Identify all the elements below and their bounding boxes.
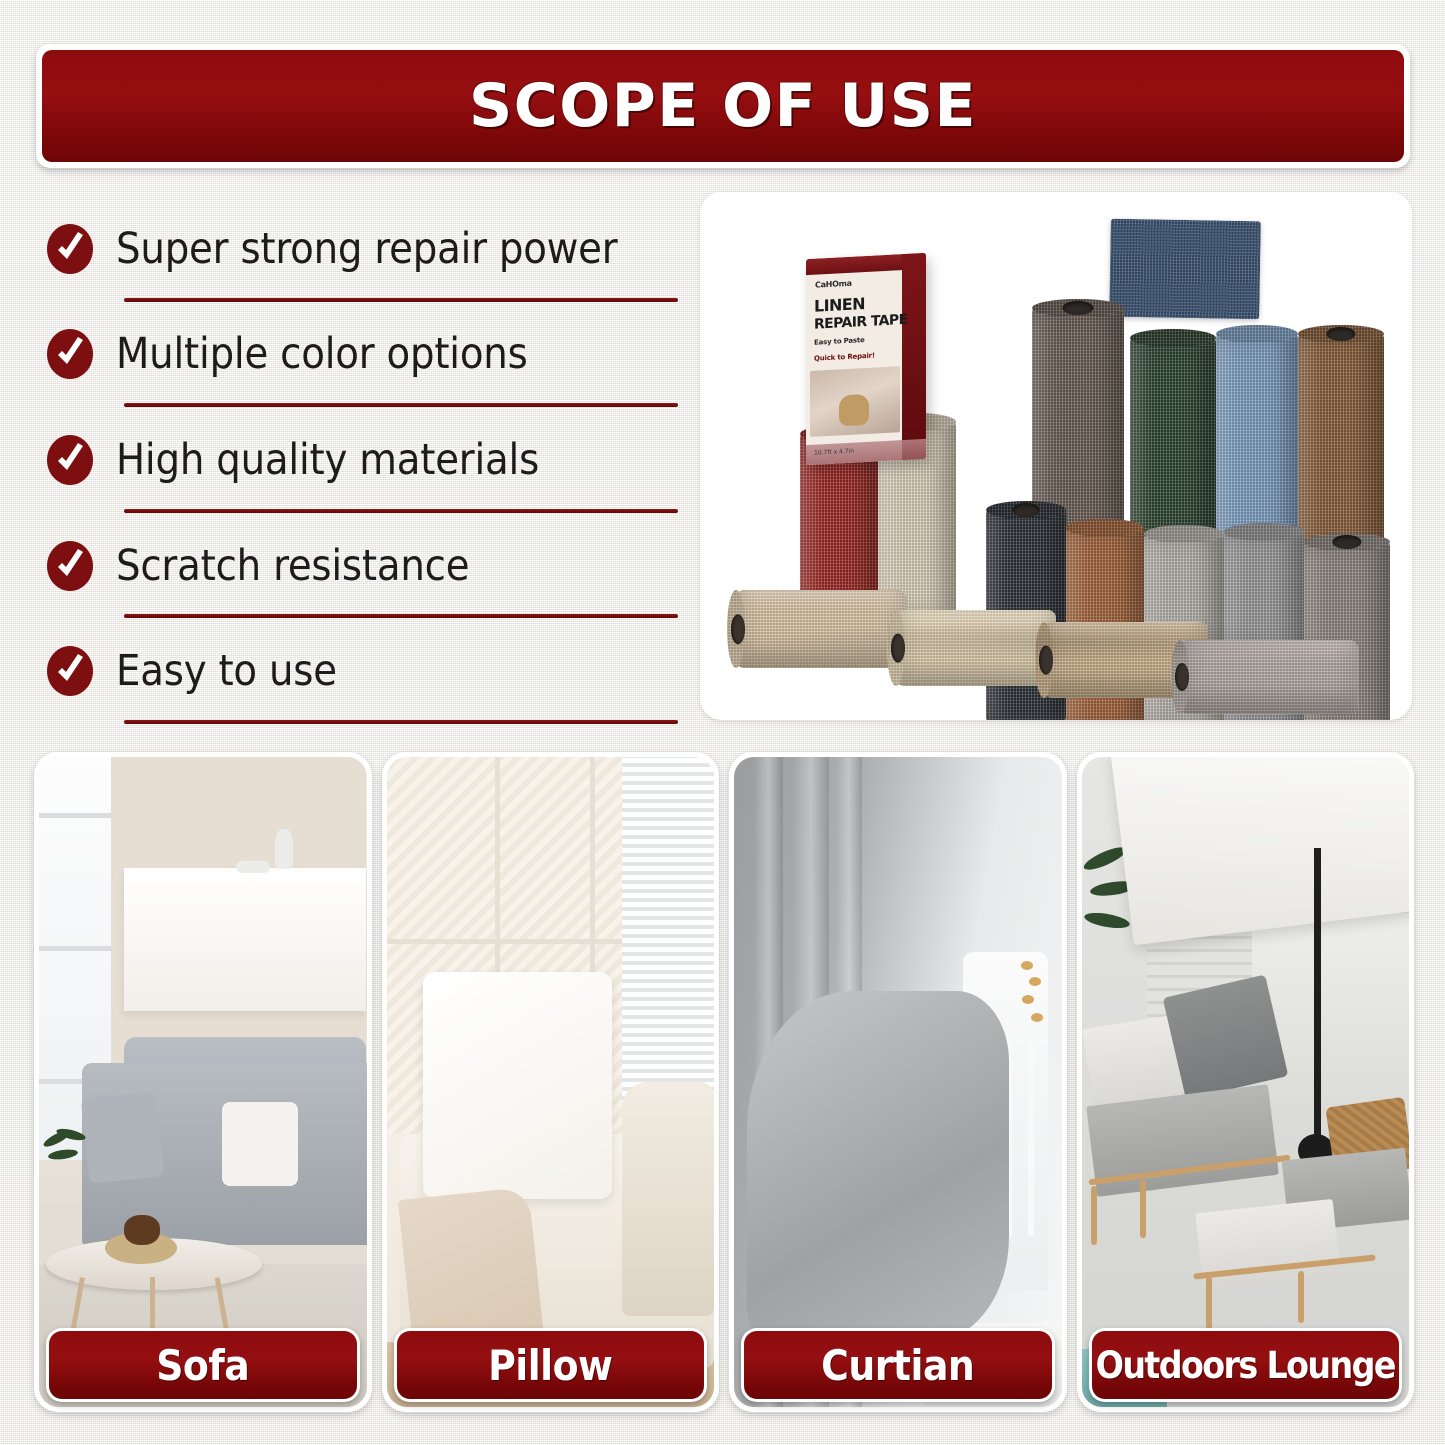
lounger-leg: [1298, 1271, 1304, 1323]
white-pillow: [423, 972, 613, 1200]
tape-roll-green: [1130, 338, 1216, 556]
panel-label-text: Curtian: [821, 1341, 974, 1390]
pillow-scene: [387, 757, 715, 1407]
panel-label-pillow: Pillow: [394, 1328, 708, 1402]
check-circle-icon: [46, 434, 94, 486]
pillow-photo: [387, 757, 715, 1407]
box-title-line1: LINEN: [814, 296, 865, 315]
flower-bud: [1021, 961, 1033, 970]
feature-item-4: Easy to use: [38, 618, 686, 724]
outdoors-photo: [1082, 757, 1410, 1407]
banner-inner: SCOPE OF USE: [42, 50, 1404, 162]
outdoors-scene: [1082, 757, 1410, 1407]
check-circle-icon: [46, 540, 94, 592]
sofa-scene: [39, 757, 367, 1407]
page-title: SCOPE OF USE: [469, 71, 977, 141]
roll-hole: [1175, 663, 1189, 691]
feature-list: Super strong repair power Multiple color…: [38, 196, 686, 724]
check-circle-icon: [46, 223, 94, 275]
curtain-photo: [734, 757, 1062, 1407]
panel-label-text: Outdoors Lounge: [1096, 1344, 1395, 1387]
roll-hole: [731, 614, 745, 644]
window-mullion: [39, 813, 111, 818]
flower-bud: [1031, 1013, 1043, 1022]
potted-plant: [42, 1128, 94, 1206]
scope-of-use-banner: SCOPE OF USE: [36, 44, 1410, 168]
scene-panel-sofa[interactable]: Sofa: [34, 752, 372, 1412]
product-floor-shadow: [760, 622, 1372, 662]
lounger-leg: [1091, 1186, 1097, 1245]
feature-divider-4: [124, 720, 678, 724]
flower-bud: [1022, 995, 1034, 1004]
roll-core: [1012, 503, 1039, 517]
feature-item-2: High quality materials: [38, 407, 686, 513]
feature-item-1: Multiple color options: [38, 302, 686, 408]
panel-label-outdoors: Outdoors Lounge: [1089, 1328, 1403, 1402]
feature-label-4: Easy to use: [116, 646, 337, 696]
panel-label-inner: Curtian: [744, 1331, 1052, 1399]
draped-fabric: [747, 991, 1009, 1342]
scene-panel-pillow[interactable]: Pillow: [382, 752, 720, 1412]
panel-label-inner: Sofa: [49, 1331, 357, 1399]
box-title-line2: REPAIR TAPE: [814, 313, 908, 332]
check-circle-icon: [46, 645, 94, 697]
product-box: CaHOma LINEN REPAIR TAPE Easy to Paste Q…: [806, 253, 926, 465]
box-lifestyle-photo: [810, 366, 900, 437]
flower-bud: [1029, 977, 1041, 986]
curtain-scene: [734, 757, 1062, 1407]
feature-label-2: High quality materials: [116, 435, 539, 485]
armchair-arm: [622, 1082, 714, 1316]
tape-swatch-navy: [1109, 219, 1261, 320]
lounger-leg: [1206, 1277, 1212, 1329]
panel-label-text: Sofa: [156, 1341, 249, 1390]
feature-label-3: Scratch resistance: [116, 541, 469, 591]
panel-label-text: Pillow: [488, 1341, 612, 1390]
sofa-white-cushion: [222, 1102, 297, 1187]
roll-hole: [891, 634, 905, 663]
scene-panel-outdoors[interactable]: Outdoors Lounge: [1077, 752, 1415, 1412]
umbrella-pole: [1314, 848, 1321, 1160]
bowl-decor: [236, 861, 270, 873]
vase-decor: [275, 829, 293, 869]
panel-label-sofa: Sofa: [46, 1328, 360, 1402]
tape-roll-lightblue: [1216, 334, 1298, 554]
box-tagline-1: Easy to Paste: [814, 336, 865, 347]
feature-item-0: Super strong repair power: [38, 196, 686, 302]
roll-core: [1332, 535, 1361, 549]
roll-hole: [1039, 646, 1053, 675]
feature-item-3: Scratch resistance: [38, 513, 686, 619]
check-circle-icon: [46, 328, 94, 380]
lounger-leg: [1140, 1180, 1146, 1239]
feature-label-0: Super strong repair power: [116, 224, 617, 274]
sofa-cabinet: [124, 868, 366, 1011]
product-photo-card: CaHOma LINEN REPAIR TAPE Easy to Paste Q…: [700, 192, 1412, 720]
dried-flower-sprig: [1019, 959, 1048, 1089]
panel-label-curtain: Curtian: [741, 1328, 1055, 1402]
box-tagline-2: Quick to Repair!: [814, 352, 875, 363]
panel-label-inner: Outdoors Lounge: [1092, 1331, 1400, 1399]
feature-label-1: Multiple color options: [116, 329, 528, 379]
box-side-panel: [902, 253, 926, 460]
panel-label-inner: Pillow: [397, 1331, 705, 1399]
plant-leaf: [48, 1147, 79, 1160]
pinecone-decor: [124, 1215, 160, 1244]
product-stage: CaHOma LINEN REPAIR TAPE Easy to Paste Q…: [700, 192, 1412, 720]
scene-panel-curtain[interactable]: Curtian: [729, 752, 1067, 1412]
scene-panel-row: Sofa Pillow: [34, 752, 1414, 1412]
brand-logo: CaHOma: [815, 279, 852, 290]
window-mullion: [39, 946, 111, 951]
plant-leaf: [1083, 910, 1131, 931]
sofa-photo: [39, 757, 367, 1407]
roll-core: [1062, 301, 1093, 315]
roll-core: [1326, 327, 1355, 341]
tape-roll-brown: [1298, 334, 1384, 556]
